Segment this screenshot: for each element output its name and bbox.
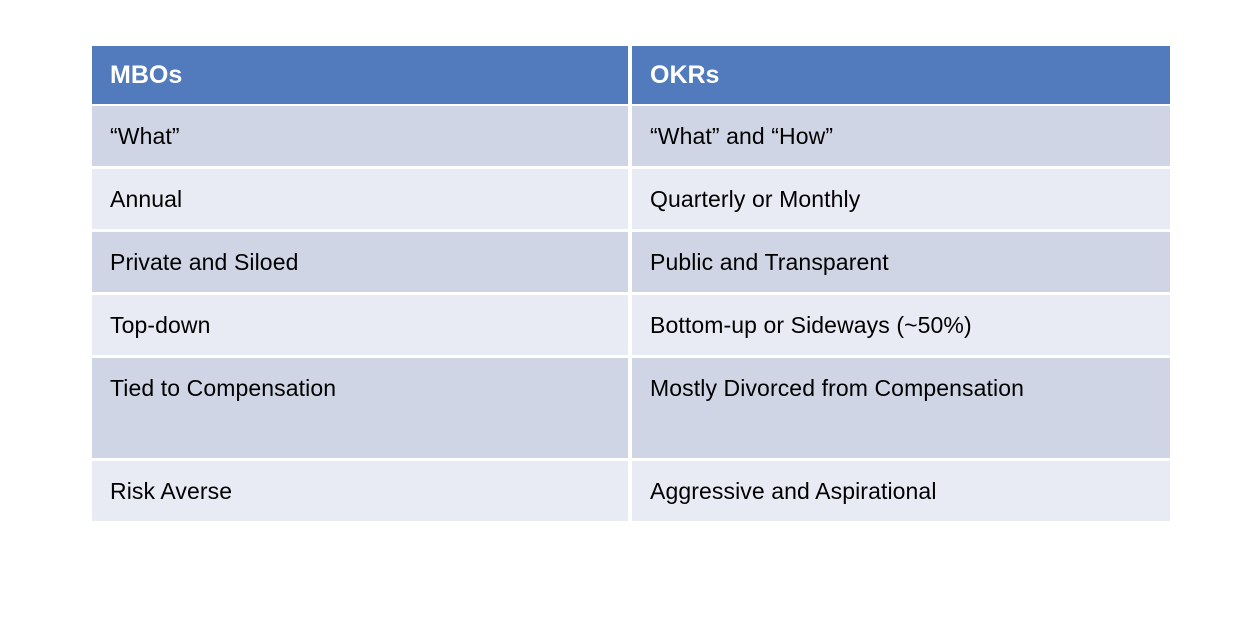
cell-text: “What” and “How”	[650, 119, 1156, 153]
cell-text: Quarterly or Monthly	[650, 182, 1156, 216]
cell-text: Tied to Compensation	[110, 371, 614, 405]
cell-okrs: “What” and “How”	[632, 104, 1170, 166]
comparison-table: MBOs OKRs “What”“What” and “How”AnnualQu…	[92, 46, 1170, 521]
cell-text: Annual	[110, 182, 614, 216]
cell-okrs: Quarterly or Monthly	[632, 166, 1170, 229]
cell-okrs: Aggressive and Aspirational	[632, 458, 1170, 521]
cell-text: Private and Siloed	[110, 245, 614, 279]
cell-text: Bottom-up or Sideways (~50%)	[650, 308, 1156, 342]
table-row: Top-downBottom-up or Sideways (~50%)	[92, 292, 1170, 355]
cell-mbos: Top-down	[92, 292, 628, 355]
cell-mbos: Private and Siloed	[92, 229, 628, 292]
cell-text: “What”	[110, 119, 614, 153]
cell-mbos: Risk Averse	[92, 458, 628, 521]
table-header: MBOs OKRs	[92, 46, 1170, 104]
cell-okrs: Bottom-up or Sideways (~50%)	[632, 292, 1170, 355]
cell-okrs: Public and Transparent	[632, 229, 1170, 292]
cell-text: Public and Transparent	[650, 245, 1156, 279]
cell-mbos: “What”	[92, 104, 628, 166]
cell-okrs: Mostly Divorced from Compensation	[632, 355, 1170, 458]
cell-text: Top-down	[110, 308, 614, 342]
cell-text: Mostly Divorced from Compensation	[650, 371, 1156, 405]
cell-text: Aggressive and Aspirational	[650, 474, 1156, 508]
table-body: “What”“What” and “How”AnnualQuarterly or…	[92, 104, 1170, 521]
table-row: Risk AverseAggressive and Aspirational	[92, 458, 1170, 521]
table-row: Private and SiloedPublic and Transparent	[92, 229, 1170, 292]
cell-text: Risk Averse	[110, 474, 614, 508]
column-header-mbos[interactable]: MBOs	[92, 46, 628, 104]
column-header-okrs[interactable]: OKRs	[632, 46, 1170, 104]
cell-mbos: Tied to Compensation	[92, 355, 628, 458]
slide-canvas: MBOs OKRs “What”“What” and “How”AnnualQu…	[0, 0, 1249, 620]
table-row: Tied to CompensationMostly Divorced from…	[92, 355, 1170, 458]
cell-mbos: Annual	[92, 166, 628, 229]
table-header-row: MBOs OKRs	[92, 46, 1170, 104]
table-row: “What”“What” and “How”	[92, 104, 1170, 166]
table-row: AnnualQuarterly or Monthly	[92, 166, 1170, 229]
